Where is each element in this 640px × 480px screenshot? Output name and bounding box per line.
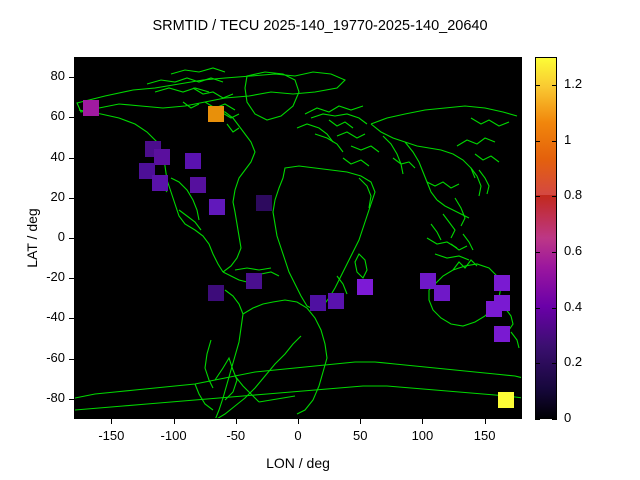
colorbar-tick bbox=[552, 419, 557, 420]
y-tick-label: 60 bbox=[21, 108, 65, 123]
data-marker bbox=[246, 273, 262, 289]
y-tick bbox=[69, 238, 74, 239]
x-tick bbox=[174, 419, 175, 424]
data-marker bbox=[328, 293, 344, 309]
data-marker bbox=[434, 285, 450, 301]
y-tick-label: -60 bbox=[21, 350, 65, 365]
colorbar-tick-label: 0.2 bbox=[564, 354, 582, 369]
x-tick-label: 100 bbox=[392, 428, 452, 443]
y-tick bbox=[69, 278, 74, 279]
x-tick bbox=[485, 419, 486, 424]
colorbar-tick bbox=[535, 85, 540, 86]
chart-title: SRMTID / TECU 2025-140_19770-2025-140_20… bbox=[0, 18, 640, 34]
colorbar-tick bbox=[552, 141, 557, 142]
x-tick bbox=[422, 419, 423, 424]
data-marker bbox=[208, 106, 224, 122]
data-marker bbox=[208, 285, 224, 301]
data-marker bbox=[152, 175, 168, 191]
data-marker bbox=[83, 100, 99, 116]
y-tick-label: 80 bbox=[21, 68, 65, 83]
data-marker bbox=[185, 153, 201, 169]
colorbar-tick bbox=[535, 419, 540, 420]
colorbar-tick-label: 1.2 bbox=[564, 76, 582, 91]
x-tick-label: -50 bbox=[206, 428, 266, 443]
data-marker bbox=[494, 275, 510, 291]
data-marker bbox=[357, 279, 373, 295]
data-marker bbox=[494, 326, 510, 342]
y-tick bbox=[69, 77, 74, 78]
colorbar-tick bbox=[552, 196, 557, 197]
colorbar-tick bbox=[552, 363, 557, 364]
colorbar-tick bbox=[535, 252, 540, 253]
x-tick-label: -150 bbox=[81, 428, 141, 443]
data-marker bbox=[154, 149, 170, 165]
y-tick-label: 40 bbox=[21, 149, 65, 164]
colorbar-tick bbox=[552, 85, 557, 86]
colorbar-tick-label: 0.6 bbox=[564, 243, 582, 258]
x-tick bbox=[298, 419, 299, 424]
data-marker bbox=[256, 195, 272, 211]
x-tick bbox=[360, 419, 361, 424]
data-marker bbox=[498, 392, 514, 408]
colorbar-tick-label: 0 bbox=[564, 410, 571, 425]
figure: SRMTID / TECU 2025-140_19770-2025-140_20… bbox=[0, 0, 640, 480]
colorbar-tick bbox=[535, 196, 540, 197]
y-tick bbox=[69, 198, 74, 199]
y-tick bbox=[69, 318, 74, 319]
x-tick-label: 0 bbox=[268, 428, 328, 443]
x-tick-label: 150 bbox=[455, 428, 515, 443]
colorbar-tick bbox=[535, 363, 540, 364]
y-tick bbox=[69, 117, 74, 118]
y-tick bbox=[69, 359, 74, 360]
data-marker bbox=[209, 199, 225, 215]
colorbar-tick bbox=[535, 141, 540, 142]
colorbar-tick-label: 0.8 bbox=[564, 187, 582, 202]
colorbar-tick-label: 0.4 bbox=[564, 299, 582, 314]
y-tick-label: -40 bbox=[21, 309, 65, 324]
map-plot-area bbox=[74, 57, 522, 419]
data-marker bbox=[310, 295, 326, 311]
data-marker bbox=[486, 301, 502, 317]
y-tick-label: -80 bbox=[21, 390, 65, 405]
x-tick-label: -100 bbox=[144, 428, 204, 443]
colorbar-tick bbox=[552, 252, 557, 253]
x-axis-title: LON / deg bbox=[74, 455, 522, 471]
x-tick bbox=[236, 419, 237, 424]
colorbar-tick-label: 1 bbox=[564, 132, 571, 147]
x-tick bbox=[111, 419, 112, 424]
x-tick-label: 50 bbox=[330, 428, 390, 443]
colorbar bbox=[535, 57, 557, 419]
data-markers bbox=[75, 58, 522, 419]
y-axis-title: LAT / deg bbox=[24, 168, 40, 308]
data-marker bbox=[190, 177, 206, 193]
y-tick bbox=[69, 158, 74, 159]
colorbar-tick bbox=[535, 308, 540, 309]
colorbar-tick bbox=[552, 308, 557, 309]
y-tick bbox=[69, 399, 74, 400]
